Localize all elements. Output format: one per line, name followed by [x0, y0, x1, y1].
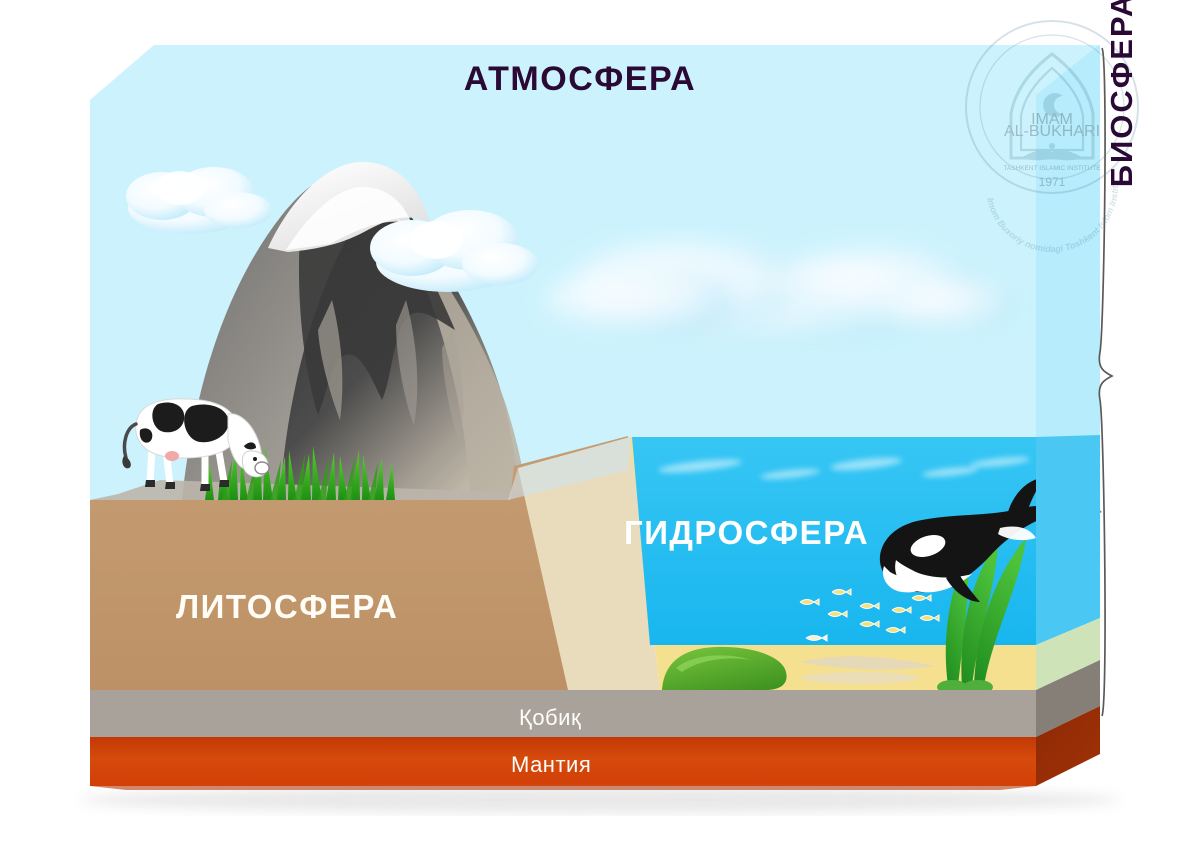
- sea-right-face: [1036, 435, 1100, 645]
- mantle-label: Мантия: [511, 752, 591, 778]
- hydrosphere-label: ГИДРОСФЕРА: [624, 514, 869, 552]
- crust-label: Қобиқ: [519, 705, 581, 731]
- watermark-year: 1971: [1039, 175, 1066, 189]
- watermark-line2: AL-BUKHARI: [1004, 123, 1100, 140]
- diagram-canvas: IMAM AL-BUKHARI TASHKENT ISLAMIC INSTITU…: [0, 0, 1200, 850]
- drop-shadow: [80, 787, 1120, 813]
- earth-spheres-illustration: IMAM AL-BUKHARI TASHKENT ISLAMIC INSTITU…: [0, 0, 1200, 850]
- lithosphere-label: ЛИТОСФЕРА: [176, 588, 398, 626]
- biosphere-label: БИОСФЕРА: [1104, 0, 1140, 255]
- watermark-line3: TASHKENT ISLAMIC INSTITUTE: [1003, 165, 1101, 172]
- atmosphere-label: АТМОСФЕРА: [0, 60, 1160, 99]
